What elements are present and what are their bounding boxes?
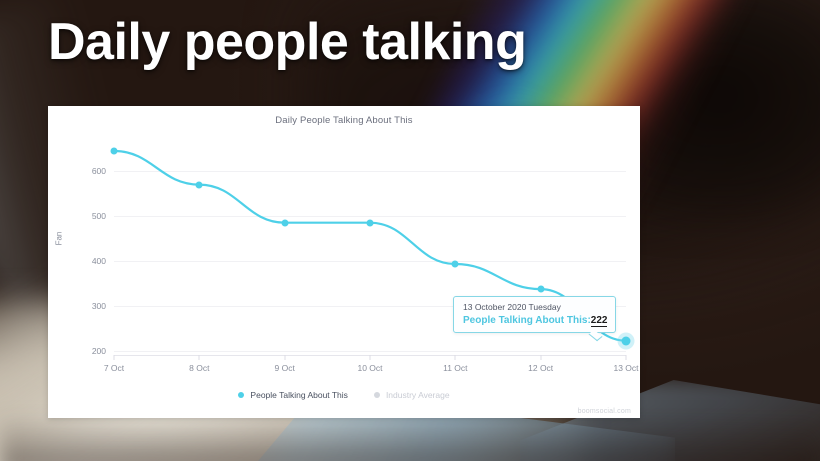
chart-tooltip: 13 October 2020 Tuesday People Talking A…	[453, 296, 616, 333]
tooltip-date: 13 October 2020 Tuesday	[463, 302, 607, 312]
data-point[interactable]	[281, 219, 288, 226]
page-title: Daily people talking	[48, 13, 526, 73]
screenshot-stage: Daily people talking Daily People Talkin…	[0, 0, 820, 461]
legend-item-label: Industry Average	[386, 390, 450, 400]
legend-dot-icon	[374, 392, 380, 398]
data-point[interactable]	[537, 286, 544, 293]
data-point[interactable]	[367, 219, 374, 226]
tooltip-value: 222	[591, 315, 608, 327]
data-point[interactable]	[196, 181, 203, 188]
background-bottom-shade	[0, 415, 820, 461]
chart-plot-area: Fan 2003004005006007 Oct8 Oct9 Oct10 Oct…	[48, 106, 640, 418]
chart-card: Daily People Talking About This Fan 2003…	[48, 106, 640, 418]
tooltip-series-label: People Talking About This:	[463, 315, 591, 326]
legend-dot-icon	[238, 392, 244, 398]
series-line-people-talking-about-this	[48, 106, 640, 418]
legend-item[interactable]: Industry Average	[374, 390, 450, 400]
data-point[interactable]	[111, 147, 118, 154]
legend-item[interactable]: People Talking About This	[238, 390, 348, 400]
watermark: boomsocial.com	[578, 408, 631, 415]
tooltip-row: People Talking About This:222	[463, 315, 607, 326]
data-point[interactable]	[452, 260, 459, 267]
legend-item-label: People Talking About This	[250, 390, 348, 400]
chart-legend: People Talking About ThisIndustry Averag…	[48, 390, 640, 400]
data-point[interactable]	[622, 336, 631, 345]
